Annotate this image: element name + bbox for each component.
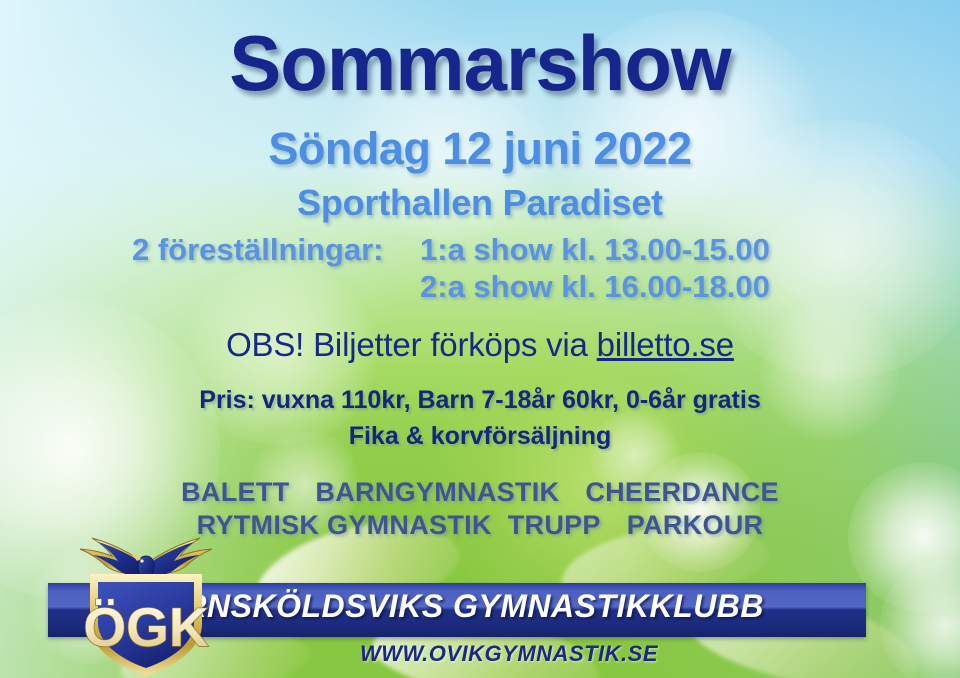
billetto-link[interactable]: billetto.se <box>597 326 734 363</box>
discipline-rytmisk-gymnastik: RYTMISK GYMNASTIK <box>197 512 492 539</box>
ticket-info: OBS! Biljetter förköps via billetto.se <box>0 328 960 361</box>
ticket-info-prefix: OBS! Biljetter förköps via <box>226 326 597 363</box>
crest-text: ÖGK <box>83 596 209 658</box>
show-row: 2:a show kl. 16.00-18.00 <box>0 269 960 306</box>
discipline-balett: BALETT <box>181 479 289 506</box>
show-times-block: 2 föreställningar: 1:a show kl. 13.00-15… <box>0 232 960 305</box>
discipline-trupp: TRUPP <box>508 512 601 539</box>
club-name: ÖRNSKÖLDSVIKS GYMNASTIKKLUBB <box>158 588 858 625</box>
disciplines-row-1: BALETTBARNGYMNASTIKCHEERDANCE <box>0 479 960 506</box>
event-date: Söndag 12 juni 2022 <box>0 126 960 171</box>
discipline-parkour: PARKOUR <box>627 512 764 539</box>
discipline-barngymnastik: BARNGYMNASTIK <box>315 479 559 506</box>
show-time-1: 1:a show kl. 13.00-15.00 <box>420 232 840 269</box>
event-venue: Sporthallen Paradiset <box>0 185 960 221</box>
ogk-logo: ÖGK <box>62 528 230 678</box>
price-info: Pris: vuxna 110kr, Barn 7-18år 60kr, 0-6… <box>0 388 960 413</box>
page-title: Sommarshow <box>0 24 960 102</box>
discipline-cheerdance: CHEERDANCE <box>585 479 779 506</box>
poster: Sommarshow Söndag 12 juni 2022 Sporthall… <box>0 0 960 678</box>
refreshments-info: Fika & korvförsäljning <box>0 424 960 449</box>
club-website: WWW.OVIKGYMNASTIK.SE <box>360 641 658 667</box>
show-time-2: 2:a show kl. 16.00-18.00 <box>420 269 840 306</box>
shows-count-label: 2 föreställningar: <box>120 232 420 269</box>
show-row: 2 föreställningar: 1:a show kl. 13.00-15… <box>0 232 960 269</box>
